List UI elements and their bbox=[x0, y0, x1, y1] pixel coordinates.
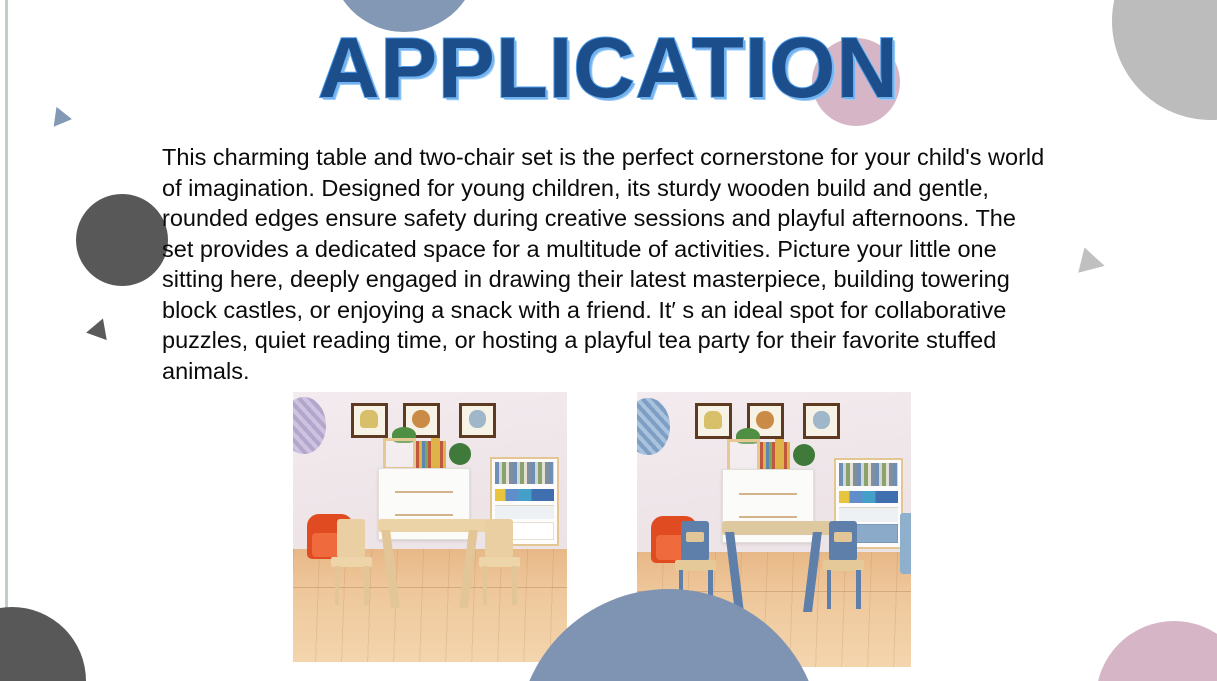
page-title: APPLICATION bbox=[0, 26, 1217, 111]
body-paragraph: This charming table and two-chair set is… bbox=[162, 142, 1052, 386]
framed-picture-1 bbox=[695, 403, 732, 439]
triangle-left-bottom-icon bbox=[84, 319, 107, 344]
triangle-right-icon bbox=[1078, 247, 1108, 278]
chair-back bbox=[337, 519, 365, 558]
side-cabinet bbox=[900, 513, 911, 574]
room-scene-natural bbox=[293, 392, 567, 662]
giraffe-figurine bbox=[431, 438, 439, 470]
circle-left-dark-shape bbox=[76, 194, 168, 286]
chair-back bbox=[485, 519, 513, 558]
bookcase-middle-shelf bbox=[839, 507, 898, 522]
framed-picture-3 bbox=[803, 403, 840, 439]
chair-leg-b bbox=[512, 566, 517, 605]
chair-leg-a bbox=[483, 566, 488, 605]
bookcase-toys bbox=[495, 489, 554, 501]
chair-leg-b bbox=[364, 566, 369, 605]
framed-picture-1 bbox=[351, 403, 388, 438]
chair-right bbox=[479, 519, 520, 605]
bonsai-plant bbox=[449, 443, 471, 465]
product-photo-natural[interactable] bbox=[293, 392, 567, 662]
chair-right bbox=[823, 521, 864, 609]
bookcase-books bbox=[495, 462, 554, 484]
giraffe-figurine bbox=[775, 439, 783, 472]
bookcase-toys bbox=[839, 491, 898, 503]
circle-bottom-left-shape bbox=[0, 607, 86, 681]
chair-leg-a bbox=[335, 566, 340, 605]
circle-bottom-right-shape bbox=[1096, 621, 1217, 681]
bookcase-middle-shelf bbox=[495, 505, 554, 520]
small-shelf bbox=[727, 439, 760, 472]
slide-canvas: APPLICATION This charming table and two-… bbox=[0, 0, 1217, 681]
chair-left bbox=[331, 519, 372, 605]
chair-back bbox=[681, 521, 709, 561]
chair-leg-b bbox=[856, 570, 861, 610]
bookcase-books bbox=[839, 463, 898, 486]
framed-picture-3 bbox=[459, 403, 496, 438]
chair-back bbox=[829, 521, 857, 561]
small-shelf bbox=[383, 438, 416, 470]
chair-leg-a bbox=[827, 570, 832, 610]
